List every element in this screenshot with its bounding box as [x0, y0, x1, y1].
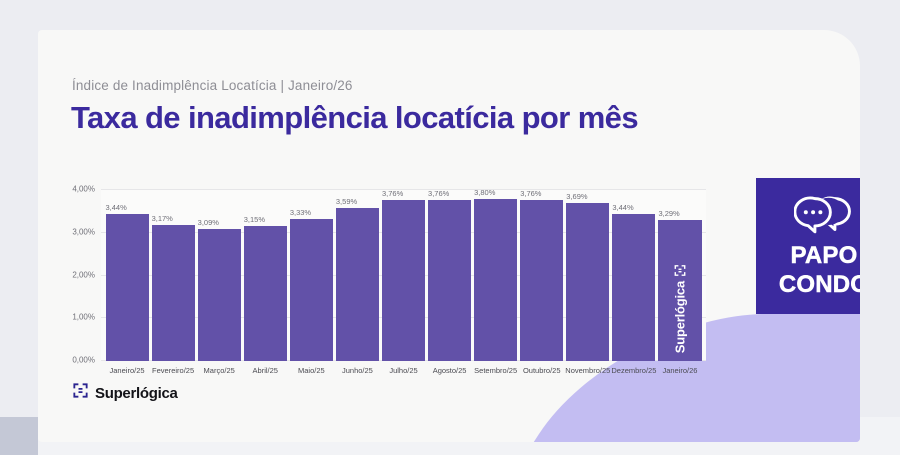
chart-data-label: 3,44%	[106, 203, 127, 212]
superlogica-logo-text: Superlógica	[95, 385, 178, 402]
chart-y-tick-label: 3,00%	[72, 227, 95, 236]
chart-x-tick-label: Dezembro/25	[611, 366, 656, 375]
chart-bar-column[interactable]: 3,44%Dezembro/25	[612, 190, 655, 361]
chart-bar[interactable]: 3,80%	[474, 199, 517, 361]
chart-bar[interactable]: 3,69%	[566, 203, 609, 361]
chart-y-tick-label: 1,00%	[72, 313, 95, 322]
chart-bar-column[interactable]: 3,17%Fevereiro/25	[152, 190, 195, 361]
papo-condo-line2: CONDO	[779, 273, 860, 297]
chart-x-tick-label: Junho/25	[342, 366, 373, 375]
chart-y-tick-label: 4,00%	[72, 185, 95, 194]
chart-bar-column[interactable]: 3,69%Novembro/25	[566, 190, 609, 361]
chart-y-tick-label: 0,00%	[72, 356, 95, 365]
chart-bar[interactable]: 3,59%	[336, 208, 379, 361]
chart-x-tick-label: Março/25	[204, 366, 235, 375]
papo-condo-line1: PAPO	[790, 244, 857, 268]
chart-data-label: 3,69%	[566, 192, 587, 201]
bar-watermark-text: Superlógica	[672, 281, 687, 353]
chart-bar-column[interactable]: 3,59%Junho/25	[336, 190, 379, 361]
chart-data-label: 3,76%	[428, 189, 449, 198]
chart-bar-column[interactable]: 3,80%Setembro/25	[474, 190, 517, 361]
chart-bar[interactable]: 3,09%	[198, 229, 241, 361]
chart-bar-column[interactable]: 3,29%SuperlógicaJaneiro/26	[658, 190, 701, 361]
chart-x-tick-label: Agosto/25	[433, 366, 467, 375]
chart-bar-column[interactable]: 3,76%Julho/25	[382, 190, 425, 361]
chart-x-tick-label: Novembro/25	[565, 366, 610, 375]
card-subtitle: Índice de Inadimplência Locatícia | Jane…	[72, 78, 353, 93]
chart-bars: 3,44%Janeiro/253,17%Fevereiro/253,09%Mar…	[101, 190, 706, 361]
slide-canvas: Índice de Inadimplência Locatícia | Jane…	[0, 0, 900, 455]
chart-data-label: 3,76%	[520, 189, 541, 198]
chart-x-tick-label: Fevereiro/25	[152, 366, 194, 375]
chart-bar[interactable]: 3,44%	[612, 214, 655, 361]
superlogica-brackets-icon	[72, 382, 89, 404]
chart-bar-column[interactable]: 3,76%Outubro/25	[520, 190, 563, 361]
chart-bar-column[interactable]: 3,09%Março/25	[198, 190, 241, 361]
chart-x-tick-label: Maio/25	[298, 366, 325, 375]
chart-x-tick-label: Janeiro/26	[662, 366, 697, 375]
chart-bar[interactable]: 3,76%	[520, 200, 563, 361]
chart-bar[interactable]: 3,17%	[152, 225, 195, 361]
chart-x-tick-label: Outubro/25	[523, 366, 561, 375]
chart-x-tick-label: Abril/25	[253, 366, 278, 375]
content-card: Índice de Inadimplência Locatícia | Jane…	[38, 30, 860, 442]
chart-bar[interactable]: 3,44%	[106, 214, 149, 361]
chart-y-tick-label: 2,00%	[72, 270, 95, 279]
chat-bubbles-icon	[794, 195, 854, 240]
superlogica-brackets-icon	[673, 264, 686, 277]
bar-chart: 0,00%1,00%2,00%3,00%4,00% 3,44%Janeiro/2…	[54, 190, 714, 385]
chart-data-label: 3,33%	[290, 208, 311, 217]
chart-bar-column[interactable]: 3,15%Abril/25	[244, 190, 287, 361]
chart-x-tick-label: Janeiro/25	[110, 366, 145, 375]
chart-data-label: 3,80%	[474, 188, 495, 197]
chart-data-label: 3,15%	[244, 215, 265, 224]
chart-bar[interactable]: 3,15%	[244, 226, 287, 361]
chart-x-tick-label: Setembro/25	[474, 366, 517, 375]
chart-bar[interactable]: 3,33%	[290, 219, 333, 361]
chart-plot-area: 0,00%1,00%2,00%3,00%4,00% 3,44%Janeiro/2…	[101, 190, 706, 361]
chart-bar[interactable]: 3,76%	[428, 200, 471, 361]
chart-bar-column[interactable]: 3,76%Agosto/25	[428, 190, 471, 361]
chart-data-label: 3,44%	[612, 203, 633, 212]
chart-data-label: 3,76%	[382, 189, 403, 198]
chart-data-label: 3,17%	[152, 214, 173, 223]
chart-bar[interactable]: 3,29%Superlógica	[658, 220, 701, 361]
superlogica-logo: Superlógica	[72, 382, 178, 404]
chart-bar[interactable]: 3,76%	[382, 200, 425, 361]
papo-condo-badge: PAPO CONDO	[756, 178, 860, 314]
chart-data-label: 3,59%	[336, 197, 357, 206]
page-title: Taxa de inadimplência locatícia por mês	[71, 100, 638, 136]
chart-data-label: 3,09%	[198, 218, 219, 227]
chart-bar-column[interactable]: 3,44%Janeiro/25	[106, 190, 149, 361]
bar-watermark: Superlógica	[672, 264, 687, 353]
chart-data-label: 3,29%	[658, 209, 679, 218]
chart-bar-column[interactable]: 3,33%Maio/25	[290, 190, 333, 361]
chart-x-tick-label: Julho/25	[389, 366, 417, 375]
card-content: Índice de Inadimplência Locatícia | Jane…	[38, 30, 860, 442]
